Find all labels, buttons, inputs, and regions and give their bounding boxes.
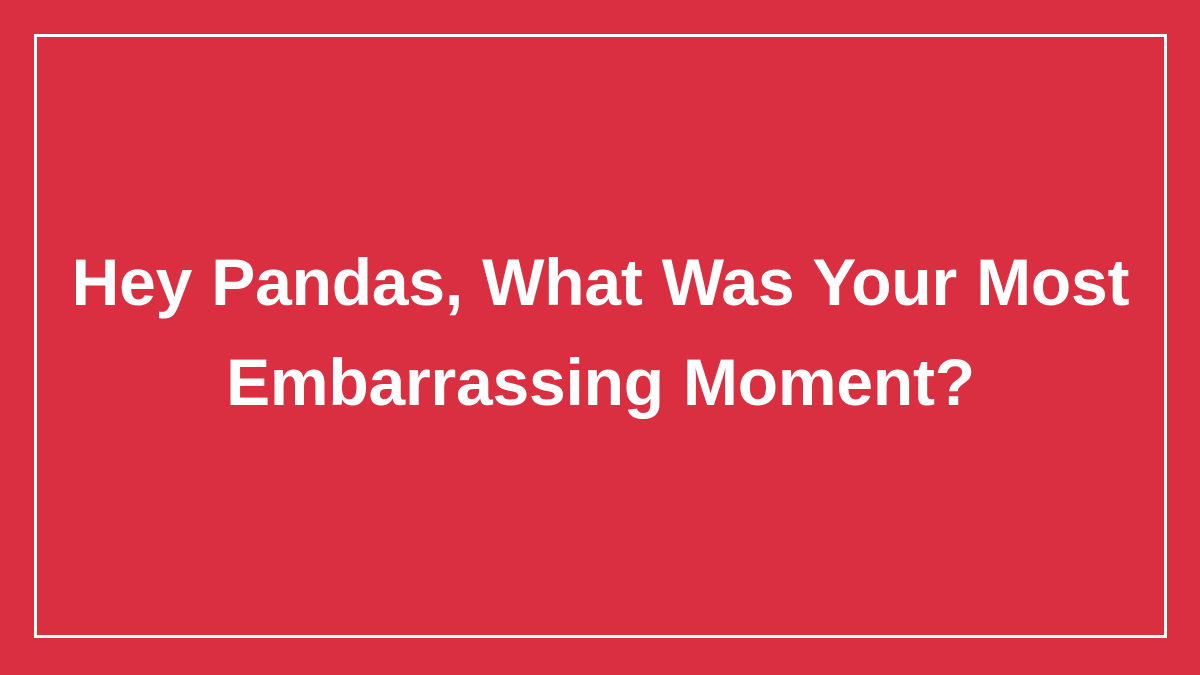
page-title-line-2: Embarrassing Moment? xyxy=(68,332,1133,432)
headline-container: Hey Pandas, What Was Your Most Embarrass… xyxy=(34,34,1167,638)
page-title: Hey Pandas, What Was Your Most Embarrass… xyxy=(68,232,1133,432)
page-title-line-1: Hey Pandas, What Was Your Most xyxy=(68,232,1133,332)
title-card: Hey Pandas, What Was Your Most Embarrass… xyxy=(0,0,1200,675)
